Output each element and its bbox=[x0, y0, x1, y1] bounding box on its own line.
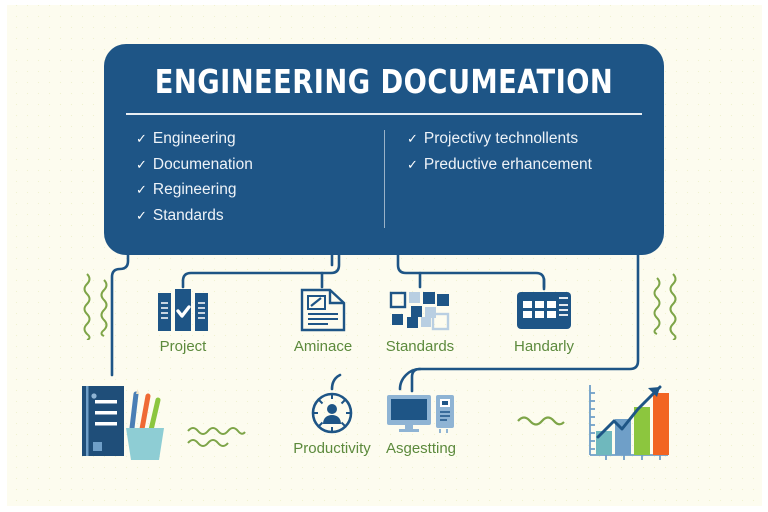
checklist-item-standards: ✓ Standards bbox=[136, 203, 371, 229]
checklist-item-projectivy: ✓ Projectivy technollents bbox=[407, 126, 642, 152]
node-label: Aminace bbox=[268, 338, 378, 355]
check-icon: ✓ bbox=[136, 177, 147, 203]
page-margin-top bbox=[0, 0, 768, 5]
check-icon: ✓ bbox=[136, 152, 147, 178]
node-standards: Standards bbox=[365, 283, 475, 355]
checklist-item-label: Engineering bbox=[153, 126, 236, 152]
infographic-canvas: ENGINEERING DOCUMEATION ✓ Engineering ✓ … bbox=[0, 0, 768, 512]
panel-column-left: ✓ Engineering ✓ Documenation ✓ Regineeri… bbox=[126, 126, 371, 236]
node-label: Asgestting bbox=[366, 440, 476, 457]
checklist-item-label: Standards bbox=[153, 203, 224, 229]
node-project: Project bbox=[128, 283, 238, 355]
node-label: Handarly bbox=[489, 338, 599, 355]
checklist-item-preductive: ✓ Preductive erhancement bbox=[407, 152, 642, 178]
bar-4 bbox=[653, 393, 669, 455]
clipboard-check-icon bbox=[128, 283, 238, 333]
page-margin-right bbox=[762, 0, 768, 512]
header-panel: ENGINEERING DOCUMEATION ✓ Engineering ✓ … bbox=[104, 44, 664, 255]
book-and-pencil-cup-illustration bbox=[78, 378, 178, 463]
check-icon: ✓ bbox=[136, 126, 147, 152]
checklist-item-label: Projectivy technollents bbox=[424, 126, 578, 152]
panel-columns: ✓ Engineering ✓ Documenation ✓ Regineeri… bbox=[126, 126, 642, 236]
checklist-item-regineering: ✓ Regineering bbox=[136, 177, 371, 203]
page-margin-left bbox=[0, 0, 7, 512]
squiggle-decoration-left bbox=[78, 272, 118, 340]
squiggle-decoration-bottom-left bbox=[186, 424, 256, 450]
check-icon: ✓ bbox=[407, 152, 418, 178]
node-aminace: Aminace bbox=[268, 283, 378, 355]
growth-bar-chart bbox=[580, 375, 680, 465]
desktop-computer-icon bbox=[366, 385, 476, 435]
node-handarly: Handarly bbox=[489, 283, 599, 355]
squares-grid-icon bbox=[365, 283, 475, 333]
checklist-item-engineering: ✓ Engineering bbox=[136, 126, 371, 152]
node-label: Standards bbox=[365, 338, 475, 355]
panel-column-right: ✓ Projectivy technollents ✓ Preductive e… bbox=[371, 126, 642, 236]
check-icon: ✓ bbox=[136, 203, 147, 229]
checklist-item-label: Preductive erhancement bbox=[424, 152, 592, 178]
checklist-item-documenation: ✓ Documenation bbox=[136, 152, 371, 178]
node-asgestting: Asgestting bbox=[366, 385, 476, 457]
squiggle-decoration-bottom-right bbox=[516, 412, 576, 428]
checklist-item-label: Regineering bbox=[153, 177, 237, 203]
squiggle-decoration-right bbox=[648, 272, 688, 340]
document-pencil-icon bbox=[268, 283, 378, 333]
checklist-item-label: Documenation bbox=[153, 152, 253, 178]
page-title: ENGINEERING DOCUMEATION bbox=[126, 62, 641, 101]
bar-3 bbox=[634, 407, 650, 455]
page-margin-bottom bbox=[0, 506, 768, 512]
node-label: Project bbox=[128, 338, 238, 355]
title-divider bbox=[126, 113, 642, 115]
calculator-icon bbox=[489, 283, 599, 333]
check-icon: ✓ bbox=[407, 126, 418, 152]
